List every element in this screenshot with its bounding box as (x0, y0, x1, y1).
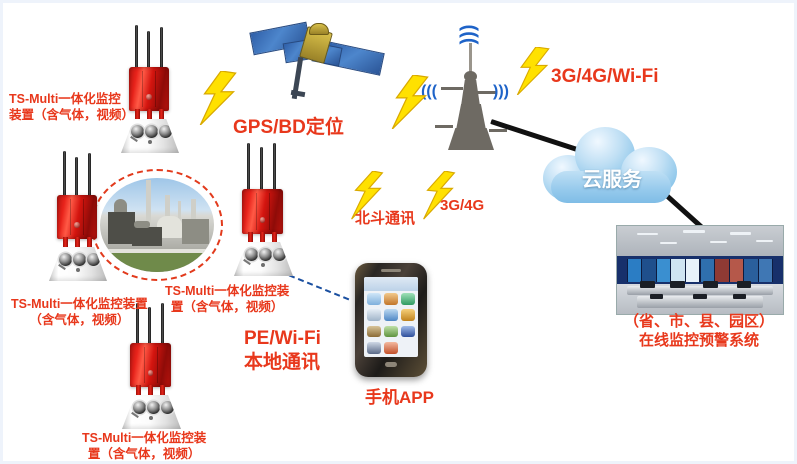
sensor-red-housing (129, 67, 169, 111)
mobile-app-device[interactable] (355, 263, 427, 377)
sensor-white-base (234, 242, 293, 276)
satellite-antenna-dish (309, 23, 329, 35)
camera-port-left (59, 253, 72, 266)
phone-speaker (381, 269, 401, 272)
app-icon-tools[interactable] (367, 342, 380, 354)
label-sensor-middle: TS-Multi一体化监控装 置（含气体，视频） (165, 284, 289, 315)
desk-monitor-1 (640, 281, 655, 287)
tower-platform-left (435, 125, 453, 128)
tower-section-lower (448, 128, 494, 150)
camera-port-right (161, 401, 174, 414)
bolt-satellite-to-tower (385, 75, 437, 129)
video-wall (627, 259, 773, 282)
sensor-white-base (121, 119, 179, 153)
label-sensor-bottom-line1: TS-Multi一体化监控装 (82, 431, 206, 447)
camera-port-center (73, 253, 86, 266)
label-sensor-top: TS-Multi一体化监控 装置（含气体，视频） (9, 92, 134, 123)
desk-monitor-2 (670, 281, 685, 287)
camera-port-center (147, 401, 160, 414)
plant-photo (100, 178, 214, 272)
phone-status-bar (364, 277, 418, 291)
sensor-red-housing (242, 189, 283, 234)
system-topology-diagram: ))) ))) ))) 云服务 (0, 0, 797, 464)
desk-chair-3 (733, 294, 746, 299)
app-icon-gas[interactable] (367, 326, 380, 338)
app-icon-video[interactable] (384, 326, 397, 338)
app-icon-settings[interactable] (401, 293, 414, 305)
plant-road (100, 249, 214, 254)
camera-port-left (133, 401, 146, 414)
camera-port-center (259, 248, 272, 261)
label-3g4g: 3G/4G (440, 197, 484, 216)
label-sensor-bottom: TS-Multi一体化监控装 置（含气体，视频） (82, 431, 206, 462)
cell-tower: ))) ))) ))) (431, 25, 513, 151)
antenna-1 (135, 25, 138, 73)
desk-chair-1 (650, 294, 663, 299)
sensor-device-middle (225, 143, 303, 275)
antenna-3 (88, 153, 91, 199)
cloud-label: 云服务 (541, 163, 683, 192)
app-icon-pause[interactable] (401, 326, 414, 338)
sensor-red-housing (130, 343, 171, 387)
label-local-comm-line2: 本地通讯 (244, 351, 321, 375)
label-monitoring-center: （省、市、县、园区） 在线监控预警系统 (618, 313, 780, 351)
antenna-3 (273, 143, 276, 193)
camera-port-left (131, 125, 144, 138)
base-screw (76, 268, 80, 272)
label-sensor-middle-line2: 置（含气体，视频） (165, 300, 289, 316)
sensor-device-left (39, 151, 117, 283)
desk-monitor-3 (703, 281, 718, 287)
plant-building-right (182, 219, 209, 243)
room-ceiling (617, 226, 783, 256)
app-icon-alarm[interactable] (401, 309, 414, 321)
label-phone-app: 手机APP (365, 387, 434, 408)
camera-port-left (245, 248, 258, 261)
tower-section-mid (456, 104, 486, 130)
label-sensor-top-line2: 装置（含气体，视频） (9, 108, 134, 124)
antenna-2 (75, 157, 78, 199)
base-screw (148, 140, 152, 144)
tower-platform-right (489, 129, 507, 132)
sensor-device-top (111, 25, 189, 155)
base-screw (149, 416, 153, 420)
app-icon-report[interactable] (367, 309, 380, 321)
cloud-service: 云服务 (541, 125, 683, 207)
phone-screen[interactable] (364, 277, 418, 357)
camera-port-right (273, 248, 286, 261)
base-screw (261, 263, 265, 267)
plant-ground (100, 251, 214, 272)
camera-port-right (87, 253, 100, 266)
wifi-wave-right-icon: ))) (493, 83, 509, 101)
desk-chair-2 (693, 294, 706, 299)
app-icon-user[interactable] (384, 342, 397, 354)
label-sensor-bottom-line2: 置（含气体，视频） (82, 447, 206, 463)
label-monitoring-center-line2: 在线监控预警系统 (618, 332, 780, 351)
plant-unit-center (132, 227, 162, 246)
antenna-2 (148, 307, 151, 347)
antenna-1 (247, 143, 250, 193)
label-sensor-middle-line1: TS-Multi一体化监控装 (165, 284, 289, 300)
sensor-white-base (49, 247, 107, 281)
label-sensor-left: TS-Multi一体化监控装置 （含气体，视频） (11, 297, 148, 328)
satellite (251, 15, 381, 101)
tower-arm-left (441, 87, 463, 90)
label-3g4g-wifi: 3G/4G/Wi-Fi (551, 65, 659, 89)
phone-home-button[interactable] (385, 362, 397, 367)
camera-port-center (145, 125, 158, 138)
sensor-white-base (122, 395, 181, 429)
label-sensor-left-line1: TS-Multi一体化监控装置 (11, 297, 148, 313)
camera-port-right (159, 125, 172, 138)
label-gps-positioning: GPS/BD定位 (233, 116, 344, 140)
app-icon-home[interactable] (367, 293, 380, 305)
antenna-3 (161, 303, 164, 347)
desk-monitor-4 (737, 281, 752, 287)
label-sensor-left-line2: （含气体，视频） (11, 313, 148, 329)
label-local-comm: PE/Wi-Fi 本地通讯 (244, 327, 321, 375)
plant-pipes (134, 221, 150, 228)
phone-app-grid[interactable] (367, 293, 415, 354)
app-icon-map[interactable] (384, 309, 397, 321)
label-beidou-comm: 北斗通讯 (355, 210, 415, 229)
app-icon-device[interactable] (384, 293, 397, 305)
label-local-comm-line1: PE/Wi-Fi (244, 327, 321, 351)
antenna-2 (260, 147, 263, 193)
label-sensor-top-line1: TS-Multi一体化监控 (9, 92, 134, 108)
plant-stack-tall (146, 180, 152, 225)
label-monitoring-center-line1: （省、市、县、园区） (618, 313, 780, 332)
sensor-red-housing (57, 195, 97, 239)
antenna-1 (63, 151, 66, 199)
wifi-wave-top-icon: ))) (457, 25, 480, 45)
control-room (616, 225, 784, 315)
app-icon-empty (401, 342, 414, 354)
